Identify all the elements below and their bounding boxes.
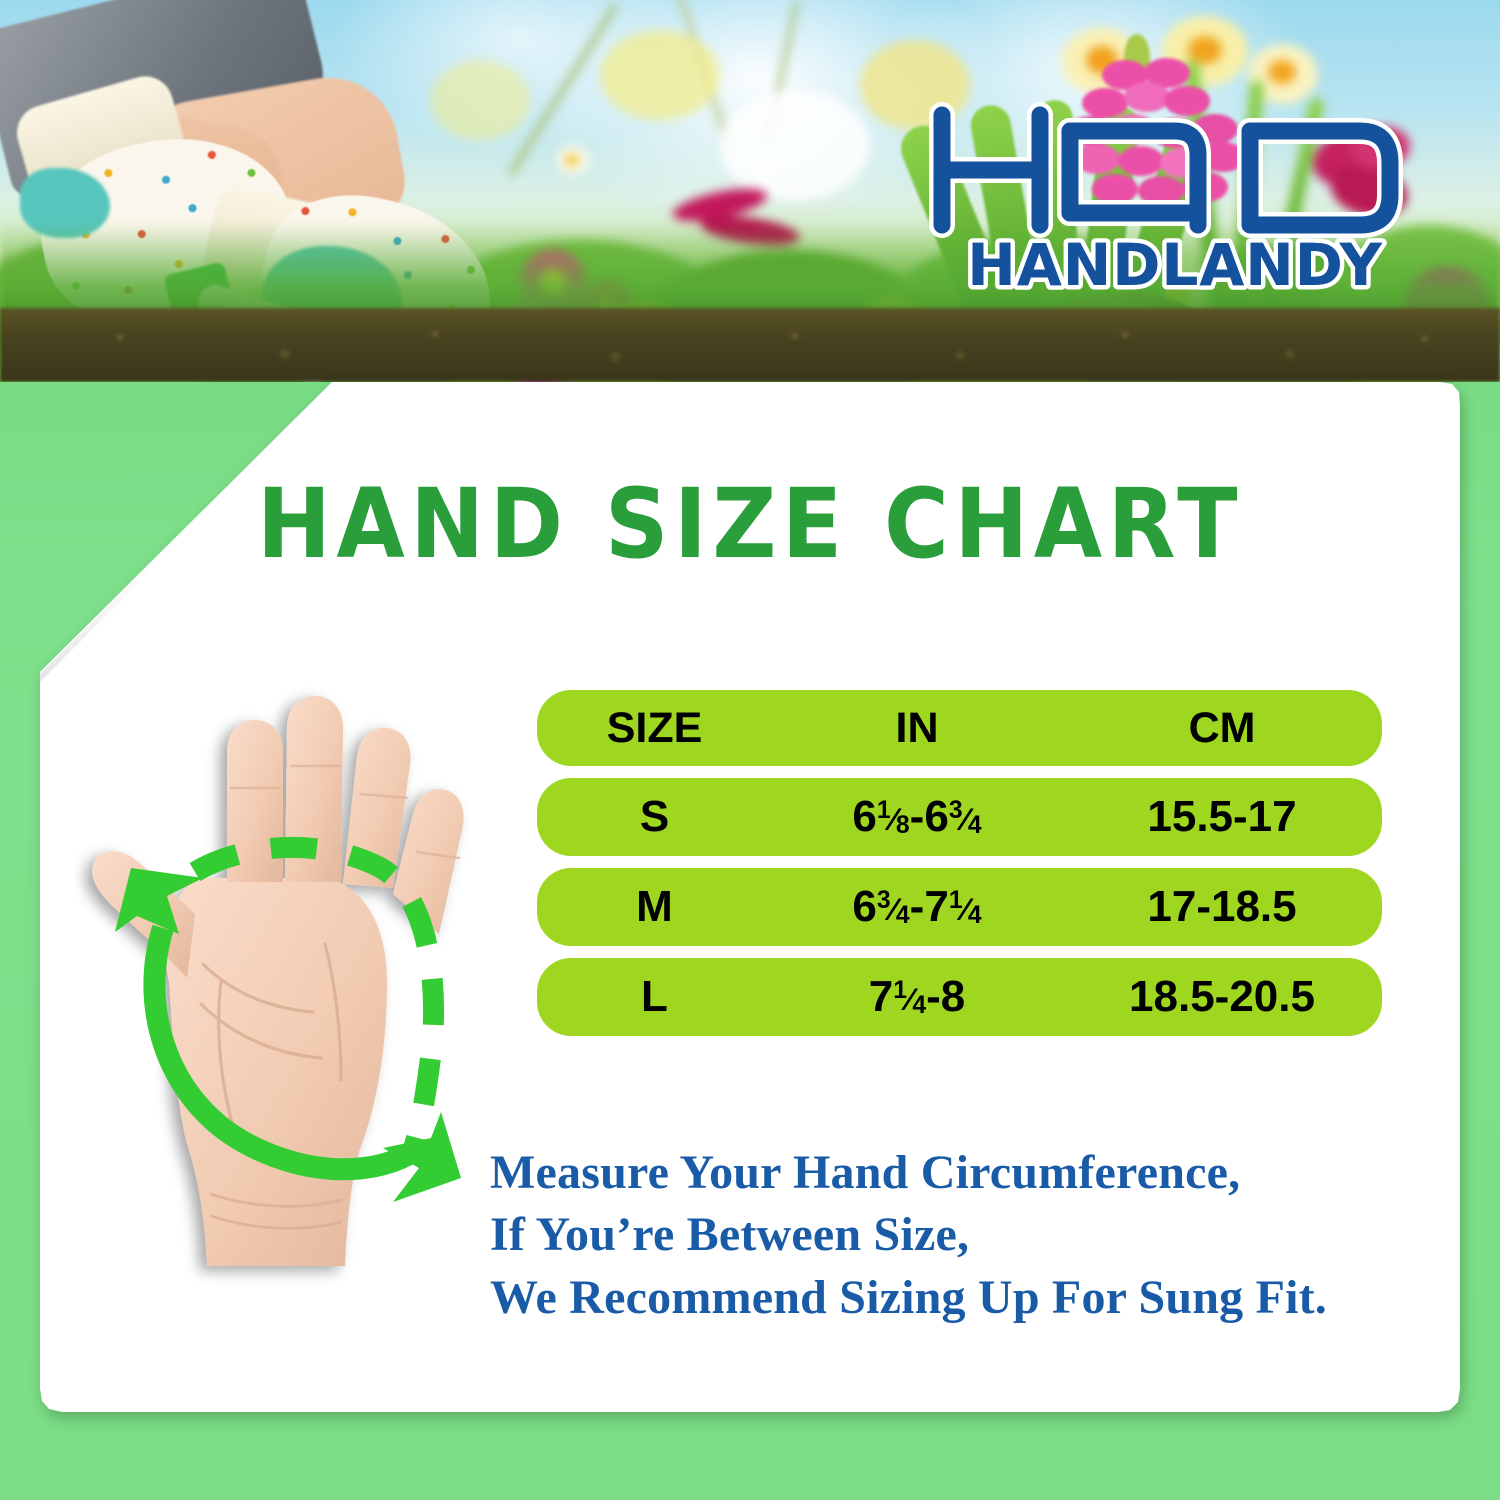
cell-cm: 18.5-20.5 bbox=[1062, 975, 1382, 1019]
page-title: HAND SIZE CHART bbox=[97, 468, 1403, 580]
note-line-3: We Recommend Sizing Up For Sung Fit. bbox=[490, 1267, 1420, 1329]
brand-logo: HANDLANDY HANDLANDY bbox=[920, 95, 1430, 295]
svg-text:HANDLANDY: HANDLANDY bbox=[967, 231, 1382, 295]
table-header-row: SIZE IN CM bbox=[537, 690, 1382, 766]
size-chart-card: HAND SIZE CHART bbox=[40, 382, 1460, 1412]
size-chart-page: HANDLANDY HANDLANDY HAND SIZE CHART bbox=[0, 0, 1500, 1500]
header-in: IN bbox=[772, 707, 1062, 750]
note-line-1: Measure Your Hand Circumference, bbox=[490, 1142, 1420, 1204]
table-row: L 71⁄4-8 18.5-20.5 bbox=[537, 958, 1382, 1036]
table-row: M 63⁄4-71⁄4 17-18.5 bbox=[537, 868, 1382, 946]
table-row: S 61⁄8-63⁄4 15.5-17 bbox=[537, 778, 1382, 856]
cell-cm: 17-18.5 bbox=[1062, 885, 1382, 929]
cell-size: L bbox=[537, 975, 772, 1019]
note-line-2: If You’re Between Size, bbox=[490, 1204, 1420, 1266]
cell-size: M bbox=[537, 885, 772, 929]
size-table: SIZE IN CM S 61⁄8-63⁄4 15.5-17 M 63⁄4-71… bbox=[537, 690, 1382, 1048]
cell-size: S bbox=[537, 795, 772, 839]
logo-mark-fill bbox=[942, 115, 1390, 225]
hand-measure-illustration bbox=[75, 682, 470, 1322]
header-size: SIZE bbox=[537, 707, 772, 750]
sizing-note: Measure Your Hand Circumference, If You’… bbox=[490, 1142, 1420, 1329]
soil-strip bbox=[0, 308, 1500, 382]
cell-in: 61⁄8-63⁄4 bbox=[772, 795, 1062, 840]
header-cm: CM bbox=[1062, 707, 1382, 750]
cell-in: 71⁄4-8 bbox=[772, 975, 1062, 1020]
cell-in: 63⁄4-71⁄4 bbox=[772, 885, 1062, 930]
cell-cm: 15.5-17 bbox=[1062, 795, 1382, 839]
